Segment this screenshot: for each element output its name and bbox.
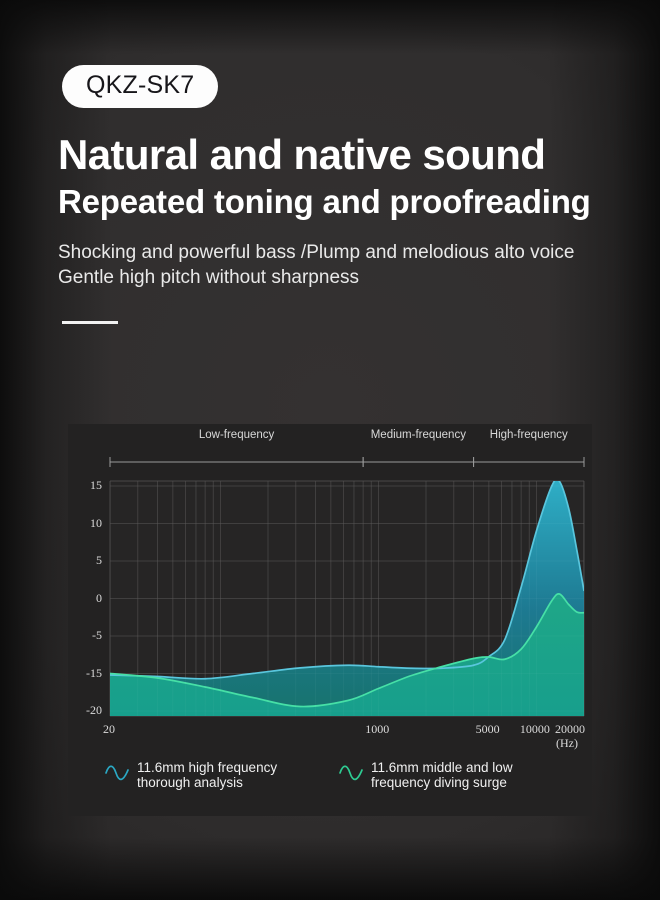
legend-line-1: 11.6mm high frequency <box>137 760 277 775</box>
y-axis-tick-label: 0 <box>68 591 102 606</box>
x-axis-tick-label: 20000 <box>555 722 585 737</box>
x-axis-tick-label: 1000 <box>365 722 389 737</box>
x-axis-tick-label: 10000 <box>520 722 550 737</box>
x-axis-tick-label: 5000 <box>476 722 500 737</box>
x-axis-unit-label: (Hz) <box>556 736 578 751</box>
y-axis-tick-label: 15 <box>68 478 102 493</box>
legend-label-mid-low-frequency: 11.6mm middle and low frequency diving s… <box>371 760 513 790</box>
subtitle-line-2: Gentle high pitch without sharpness <box>58 265 574 290</box>
frequency-response-chart-panel: Low-frequencyMedium-frequencyHigh-freque… <box>68 424 592 816</box>
y-axis-tick-label: -5 <box>68 628 102 643</box>
legend-item-high-frequency: 11.6mm high frequency thorough analysis <box>104 760 277 790</box>
chart-legend: 11.6mm high frequency thorough analysis … <box>68 754 592 802</box>
subtitle-line-1: Shocking and powerful bass /Plump and me… <box>58 240 574 265</box>
y-axis-tick-label: -15 <box>68 666 102 681</box>
y-axis-tick-label: -20 <box>68 703 102 718</box>
y-axis-tick-label: 10 <box>68 516 102 531</box>
sine-wave-icon <box>104 765 130 785</box>
subtitle-block: Shocking and powerful bass /Plump and me… <box>58 240 574 290</box>
legend-line-2: thorough analysis <box>137 775 277 790</box>
product-badge: QKZ-SK7 <box>62 65 218 108</box>
headline-primary: Natural and native sound <box>58 134 545 176</box>
sine-wave-icon <box>338 765 364 785</box>
section-divider <box>62 321 118 324</box>
legend-item-mid-low-frequency: 11.6mm middle and low frequency diving s… <box>338 760 513 790</box>
x-axis-tick-label: 20 <box>103 722 115 737</box>
y-axis-tick-label: 5 <box>68 553 102 568</box>
legend-line-2: frequency diving surge <box>371 775 513 790</box>
headline-secondary: Repeated toning and proofreading <box>58 185 591 218</box>
legend-label-high-frequency: 11.6mm high frequency thorough analysis <box>137 760 277 790</box>
legend-line-1: 11.6mm middle and low <box>371 760 513 775</box>
